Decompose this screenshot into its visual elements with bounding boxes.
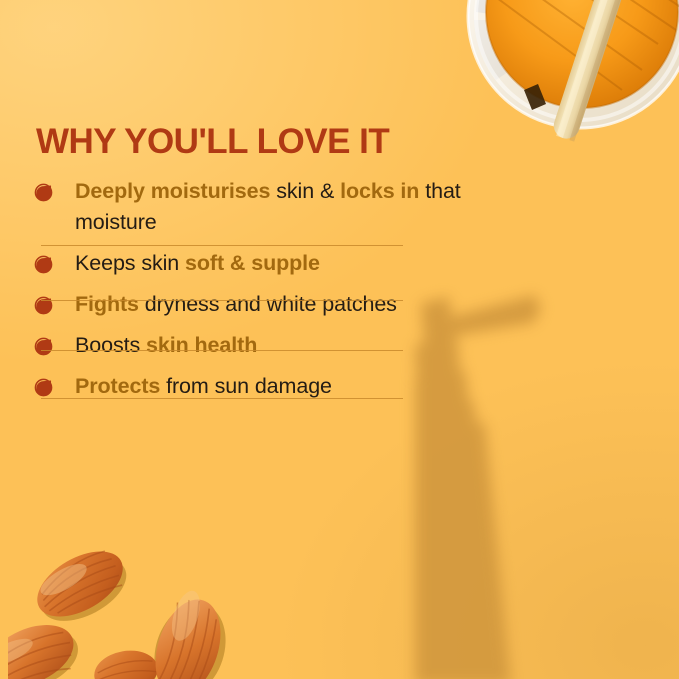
list-item-label: Keeps skin soft & supple (75, 248, 504, 289)
list-item: Keeps skin soft & supple (34, 248, 504, 289)
droplet-in-circle-icon (34, 378, 53, 397)
list-item: Deeply moisturises skin & locks in that … (34, 176, 504, 248)
benefit-plain: from sun damage (166, 374, 332, 398)
page-title: WHY YOU'LL LOVE IT (36, 122, 389, 162)
benefit-emphasis: skin health (146, 333, 257, 357)
list-item-label: Deeply moisturises skin & locks in that … (75, 176, 504, 248)
content-layer: WHY YOU'LL LOVE IT Deeply moisturises sk… (0, 0, 679, 679)
benefit-emphasis: Fights (75, 292, 145, 316)
list-item: Fights dryness and white patches (34, 289, 504, 330)
benefit-plain: Boosts (75, 333, 146, 357)
list-separator (41, 245, 403, 246)
benefit-emphasis: Protects (75, 374, 166, 398)
droplet-in-circle-icon (34, 337, 53, 356)
benefit-plain: dryness and white patches (145, 292, 397, 316)
list-separator (41, 300, 403, 301)
list-item: Protects from sun damage (34, 371, 504, 412)
list-item-label: Protects from sun damage (75, 371, 504, 412)
list-separator (41, 398, 403, 399)
benefit-plain: skin & (276, 179, 340, 203)
list-separator (41, 350, 403, 351)
benefit-emphasis: Deeply moisturises (75, 179, 276, 203)
droplet-in-circle-icon (34, 183, 53, 202)
product-benefits-poster: WHY YOU'LL LOVE IT Deeply moisturises sk… (0, 0, 679, 679)
benefit-plain: Keeps skin (75, 251, 185, 275)
droplet-in-circle-icon (34, 296, 53, 315)
droplet-in-circle-icon (34, 255, 53, 274)
benefit-emphasis: locks in (340, 179, 425, 203)
benefit-emphasis: soft & supple (185, 251, 320, 275)
benefits-list: Deeply moisturises skin & locks in that … (34, 176, 504, 412)
list-item-label: Fights dryness and white patches (75, 289, 504, 330)
